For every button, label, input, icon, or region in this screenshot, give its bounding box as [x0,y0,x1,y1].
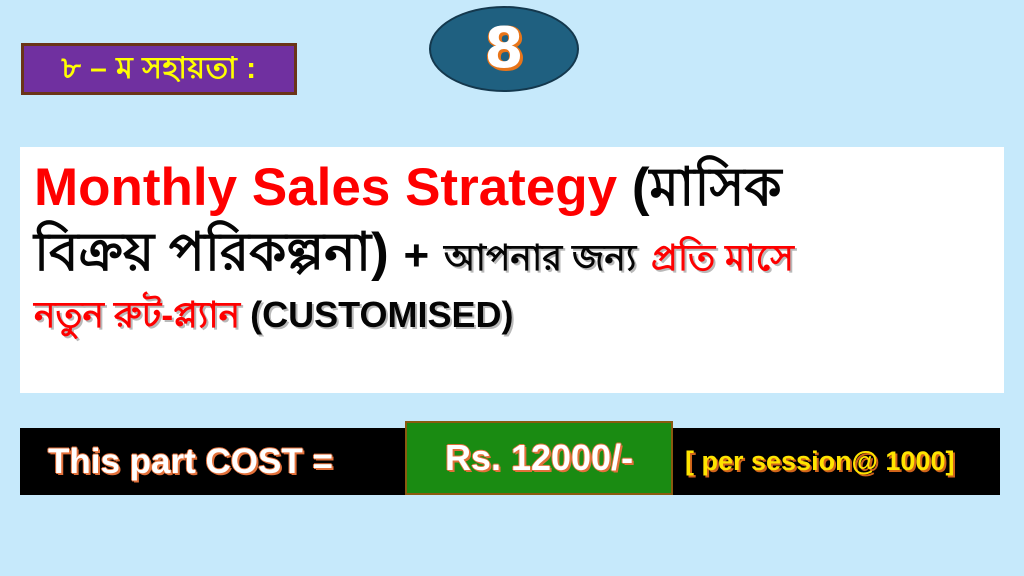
headline-title-english: Monthly Sales Strategy [34,158,617,217]
cost-label: This part COST = [48,442,333,482]
step-number-badge: 8 [429,6,579,92]
cost-bar: This part COST = Rs. 12000/- [ per sessi… [20,428,1000,495]
headline-subtitle-bengali-close: বিক্রয় পরিকল্পনা) [34,223,389,282]
cost-amount-value: Rs. 12000/- [445,437,633,479]
slide-canvas: ৮ – ম সহায়তা : 8 Monthly Sales Strategy… [0,0,1024,576]
section-tag-label: ৮ – ম সহায়তা : [61,54,256,84]
cost-amount-box: Rs. 12000/- [405,421,673,495]
headline-line-3: নতুন রুট-প্ল্যান (CUSTOMISED) [34,297,990,333]
headline-routeplan-bengali: নতুন রুট-প্ল্যান [34,294,240,335]
section-tag: ৮ – ম সহায়তা : [21,43,297,95]
headline-customised-english: (CUSTOMISED) [240,294,513,335]
cost-per-session-note: [ per session@ 1000] [685,446,954,477]
plus-sign: + [404,231,430,280]
step-number-value: 8 [485,21,524,77]
headline-title-bengali-open: (মাসিক [617,158,781,217]
headline-offer-bengali: আপনার জন্য [444,237,636,278]
headline-line-2: বিক্রয় পরিকল্পনা) + আপনার জন্য প্রতি মা… [34,226,990,279]
headline-line-1: Monthly Sales Strategy (মাসিক [34,161,990,214]
headline-frequency-bengali: প্রতি মাসে [651,237,794,278]
headline-panel: Monthly Sales Strategy (মাসিক বিক্রয় পর… [20,147,1004,393]
